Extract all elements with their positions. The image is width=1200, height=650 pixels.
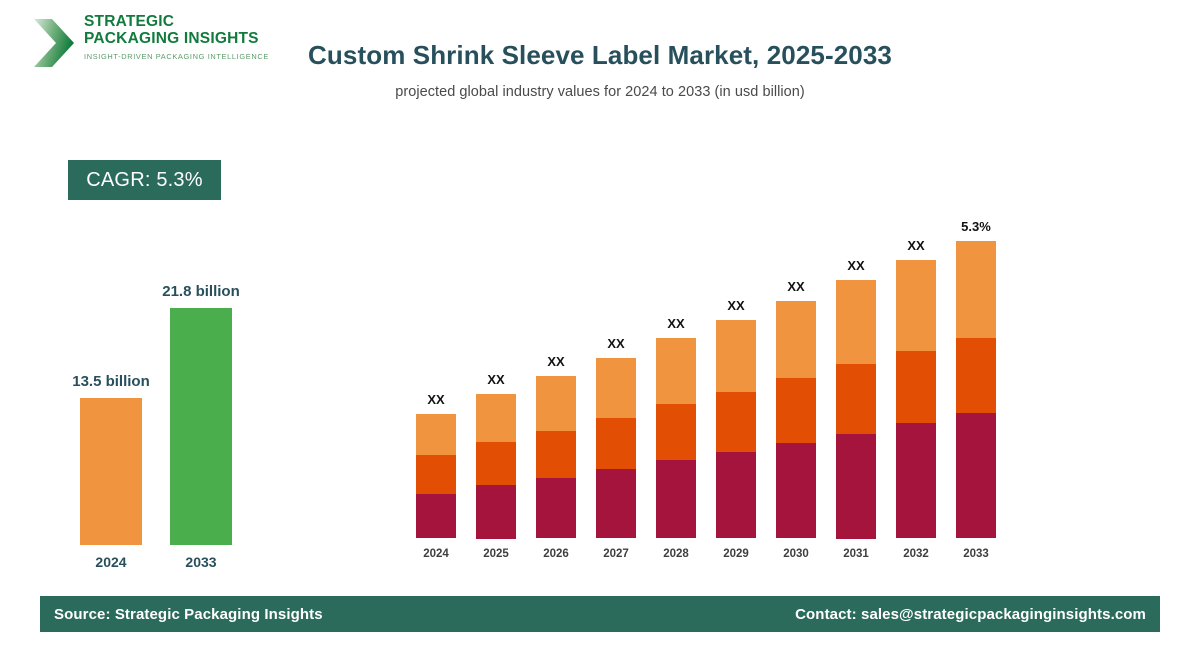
comparison-bar [170,308,232,545]
stacked-segment-segment-2 [596,418,636,469]
stacked-segment-segment-1 [716,452,756,538]
stacked-category-label: 2030 [762,548,830,560]
stacked-category-label: 2025 [462,548,530,560]
stacked-segment-segment-2 [716,392,756,452]
stacked-value-flag: XX [514,354,598,369]
stacked-segment-segment-3 [776,301,816,378]
stacked-column: XX2025 [476,215,516,560]
stacked-bar [476,394,516,538]
stacked-category-label: 2033 [942,548,1010,560]
page-title: Custom Shrink Sleeve Label Market, 2025-… [300,36,900,74]
stacked-segment-segment-3 [836,280,876,364]
stacked-column: 5.3%2033 [956,215,996,560]
stacked-segment-segment-1 [416,494,456,538]
stacked-category-label: 2026 [522,548,590,560]
stacked-value-flag: XX [874,238,958,253]
stacked-bar [896,260,936,538]
stacked-bar [776,301,816,538]
stacked-segment-segment-3 [596,358,636,418]
stacked-segment-segment-1 [656,460,696,538]
footer-contact: Contact: sales@strategicpackaginginsight… [795,606,1146,623]
stacked-column: XX2031 [836,215,876,560]
stacked-value-flag: XX [574,336,658,351]
logo-tagline: INSIGHT-DRIVEN PACKAGING INTELLIGENCE [84,52,269,61]
stacked-category-label: 2032 [882,548,950,560]
stacked-value-flag: XX [394,392,478,407]
comparison-value-label: 13.5 billion [58,373,164,390]
logo-line-2: PACKAGING INSIGHTS [84,31,269,48]
page-subtitle: projected global industry values for 202… [300,84,900,100]
comparison-column: 13.5 billion2024 [80,374,142,570]
brand-logo: STRATEGIC PACKAGING INSIGHTS INSIGHT-DRI… [32,14,332,76]
stacked-segment-segment-3 [716,320,756,392]
yearly-projection-stacked-chart: XX2024XX2025XX2026XX2027XX2028XX2029XX20… [398,195,1018,560]
stacked-value-flag: XX [454,372,538,387]
stacked-segment-segment-2 [656,404,696,460]
stacked-segment-segment-1 [596,469,636,538]
footer-source: Source: Strategic Packaging Insights [54,606,323,623]
stacked-segment-segment-1 [956,413,996,538]
stacked-bar [416,414,456,538]
stacked-bar [596,358,636,538]
stacked-segment-segment-3 [536,376,576,431]
stacked-segment-segment-2 [416,455,456,494]
stacked-segment-segment-3 [896,260,936,351]
stacked-segment-segment-1 [836,434,876,539]
stacked-column: XX2027 [596,215,636,560]
stacked-bar [836,280,876,538]
stacked-segment-segment-3 [416,414,456,455]
stacked-value-flag: XX [754,279,838,294]
stacked-segment-segment-2 [896,351,936,423]
stacked-bar [656,338,696,538]
stacked-segment-segment-2 [476,442,516,485]
stacked-column: XX2029 [716,215,756,560]
comparison-category-label: 2024 [80,554,142,570]
stacked-segment-segment-2 [836,364,876,434]
cagr-badge: CAGR: 5.3% [68,160,221,200]
stacked-category-label: 2029 [702,548,770,560]
stacked-value-flag: XX [694,298,778,313]
stacked-value-flag: XX [814,258,898,273]
stacked-column: XX2030 [776,215,816,560]
stacked-segment-segment-1 [476,485,516,539]
stacked-value-flag: 5.3% [934,219,1018,234]
stacked-category-label: 2027 [582,548,650,560]
stacked-segment-segment-2 [956,338,996,413]
stacked-segment-segment-1 [776,443,816,538]
stacked-column: XX2028 [656,215,696,560]
stacked-column: XX2032 [896,215,936,560]
stacked-segment-segment-1 [896,423,936,538]
stacked-category-label: 2031 [822,548,890,560]
stacked-segment-segment-2 [776,378,816,443]
footer-bar: Source: Strategic Packaging Insights Con… [40,596,1160,632]
chevron-right-icon [32,18,76,68]
logo-wordmark: STRATEGIC PACKAGING INSIGHTS INSIGHT-DRI… [84,14,269,61]
stacked-segment-segment-3 [476,394,516,442]
stacked-column: XX2026 [536,215,576,560]
stacked-segment-segment-3 [656,338,696,404]
comparison-column: 21.8 billion2033 [170,284,232,570]
stacked-column: XX2024 [416,215,456,560]
comparison-bar [80,398,142,545]
market-size-comparison-chart: 13.5 billion202421.8 billion2033 [55,300,285,570]
stacked-value-flag: XX [634,316,718,331]
stacked-segment-segment-1 [536,478,576,538]
stacked-segment-segment-2 [536,431,576,478]
logo-line-1: STRATEGIC [84,14,269,31]
stacked-bar [956,241,996,538]
comparison-value-label: 21.8 billion [148,283,254,300]
stacked-category-label: 2024 [402,548,470,560]
comparison-category-label: 2033 [170,554,232,570]
stacked-category-label: 2028 [642,548,710,560]
stacked-bar [716,320,756,538]
stacked-bar [536,376,576,538]
stacked-segment-segment-3 [956,241,996,338]
title-block: Custom Shrink Sleeve Label Market, 2025-… [300,36,900,100]
